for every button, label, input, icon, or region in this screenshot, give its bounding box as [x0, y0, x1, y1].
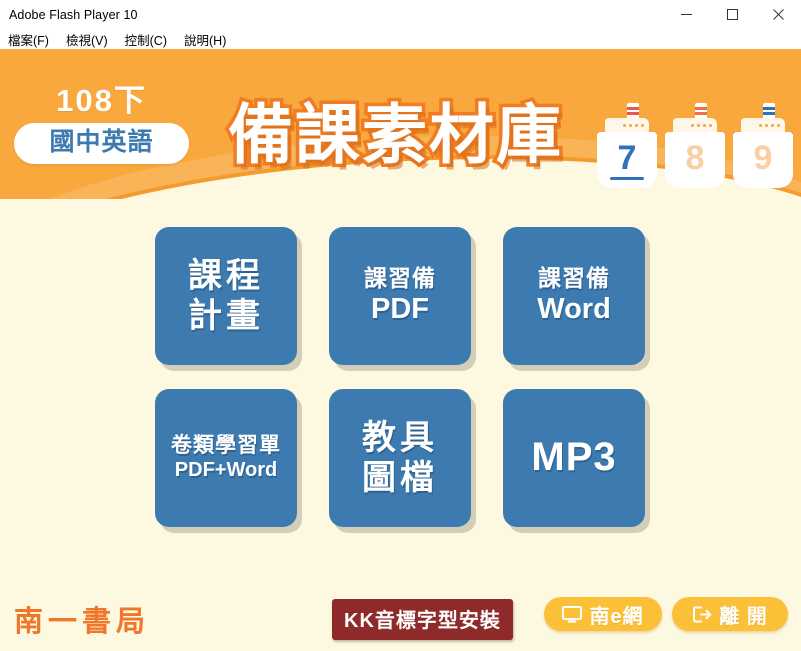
- tile-worksheets[interactable]: 卷類學習單 PDF+Word: [155, 389, 297, 527]
- ship-windows-icon: [759, 124, 780, 127]
- tile-label-line2: 圖檔: [362, 458, 438, 498]
- monitor-icon: [562, 606, 582, 623]
- tile-label-line2: 計畫: [188, 296, 264, 336]
- grade-number-7: 7: [618, 141, 637, 175]
- window-titlebar: Adobe Flash Player 10: [0, 0, 801, 29]
- footer-bar: 南一書局 KK音標字型安裝 南e網 離 開: [0, 589, 801, 651]
- tile-label-line1: 課程: [188, 256, 264, 296]
- ship-hull-icon: 8: [665, 132, 725, 188]
- grade-number-9: 9: [754, 141, 773, 175]
- flash-player-window: Adobe Flash Player 10 檔案(F) 檢視(V: [0, 0, 801, 651]
- exit-icon: [692, 606, 712, 623]
- grade-tab-8[interactable]: 8: [665, 101, 725, 191]
- ship-hull-icon: 9: [733, 132, 793, 188]
- tile-teaching-images[interactable]: 教具 圖檔: [329, 389, 471, 527]
- close-icon: [773, 9, 784, 20]
- ship-windows-icon: [691, 124, 712, 127]
- minimize-icon: [681, 9, 692, 20]
- tile-label-line1: 課習備: [538, 265, 610, 292]
- exit-label: 離 開: [719, 600, 768, 629]
- nan-e-web-label: 南e網: [589, 600, 643, 629]
- term-subject-block: 108下 國中英語: [14, 85, 189, 164]
- menu-item-view[interactable]: 檢視(V): [66, 30, 108, 49]
- publisher-logo: 南一書局: [14, 598, 150, 640]
- page-title: 備課素材庫: [228, 102, 563, 167]
- menu-tile-grid: 課程 計畫 課習備 PDF 課習備 Word 卷類學習單 PDF+Word 教具…: [155, 227, 645, 527]
- tile-lesson-prep-word[interactable]: 課習備 Word: [503, 227, 645, 365]
- nan-e-web-button[interactable]: 南e網: [544, 597, 662, 631]
- menubar: 檔案(F) 檢視(V) 控制(C) 說明(H): [0, 29, 801, 49]
- tile-label-line1: 教具: [362, 418, 438, 458]
- window-title: Adobe Flash Player 10: [0, 8, 138, 22]
- close-button[interactable]: [755, 0, 801, 29]
- window-controls: [663, 0, 801, 29]
- tile-label-line1: 卷類學習單: [171, 434, 281, 459]
- grade-tab-9[interactable]: 9: [733, 101, 793, 191]
- exit-button[interactable]: 離 開: [672, 597, 788, 631]
- tile-label-line1: MP3: [531, 434, 616, 481]
- tile-label-line2: PDF+Word: [175, 459, 277, 483]
- maximize-icon: [727, 9, 738, 20]
- grade-tabs: 7 8: [597, 101, 793, 191]
- ship-windows-icon: [623, 124, 644, 127]
- flash-stage: 108下 國中英語 備課素材庫 7: [0, 49, 801, 651]
- grade-number-8: 8: [686, 141, 705, 175]
- maximize-button[interactable]: [709, 0, 755, 29]
- tile-mp3[interactable]: MP3: [503, 389, 645, 527]
- menu-item-control[interactable]: 控制(C): [125, 30, 167, 49]
- tile-course-plan[interactable]: 課程 計畫: [155, 227, 297, 365]
- tile-label-line2: PDF: [371, 292, 429, 326]
- menu-item-help[interactable]: 說明(H): [184, 30, 226, 49]
- tile-lesson-prep-pdf[interactable]: 課習備 PDF: [329, 227, 471, 365]
- kk-font-install-button[interactable]: KK音標字型安裝: [332, 599, 513, 640]
- minimize-button[interactable]: [663, 0, 709, 29]
- tile-label-line1: 課習備: [364, 265, 436, 292]
- subject-badge: 國中英語: [14, 123, 189, 164]
- header-banner: 108下 國中英語 備課素材庫 7: [0, 49, 801, 199]
- term-label: 108下: [14, 85, 189, 116]
- grade-active-underline: [610, 177, 644, 180]
- tile-label-line2: Word: [537, 292, 611, 326]
- grade-tab-7[interactable]: 7: [597, 101, 657, 191]
- menu-item-file[interactable]: 檔案(F): [8, 30, 49, 49]
